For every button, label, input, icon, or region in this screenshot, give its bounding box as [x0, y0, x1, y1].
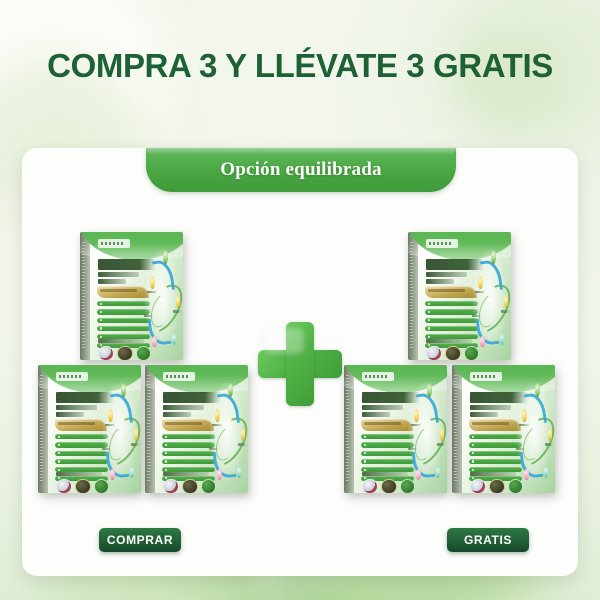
product-box-front — [452, 365, 555, 493]
product-box-front — [80, 232, 183, 360]
made-in-usa-badge-icon — [426, 346, 442, 360]
ingredient-dot — [215, 409, 220, 422]
art-label — [238, 443, 246, 446]
product-subtitle-line1 — [362, 405, 403, 410]
brand-logo — [362, 372, 394, 381]
product-box-front — [344, 365, 447, 493]
made-in-usa-badge-icon — [362, 479, 378, 493]
product-box[interactable] — [344, 365, 447, 493]
product-artwork — [100, 380, 140, 489]
gmp-badge-icon — [182, 479, 198, 493]
product-footer-note — [98, 339, 145, 343]
product-footer-note — [470, 472, 517, 476]
ingredient-dot — [121, 383, 126, 397]
gmp-badge-icon — [117, 346, 133, 360]
product-subtitle-line2 — [470, 412, 498, 417]
product-box[interactable] — [38, 365, 141, 493]
product-footer-note — [362, 472, 409, 476]
art-label — [131, 443, 139, 446]
made-in-usa-badge-icon — [470, 479, 486, 493]
ingredient-dot — [478, 276, 483, 289]
plus-gloss — [264, 328, 304, 354]
box-face — [48, 365, 141, 493]
ingredient-dot — [522, 409, 527, 422]
box-face — [462, 365, 555, 493]
ingredient-dot — [535, 383, 540, 397]
ingredient-dot — [480, 336, 484, 348]
box-face — [90, 232, 183, 360]
product-footer-note — [56, 472, 103, 476]
product-footer-note — [163, 472, 210, 476]
product-artwork — [470, 247, 510, 356]
product-subtitle-line2 — [163, 412, 191, 417]
ingredient-dot — [217, 469, 221, 481]
ingredient-dot — [152, 336, 156, 348]
product-subtitle-line1 — [56, 405, 97, 410]
made-in-usa-badge-icon — [56, 479, 72, 493]
plus-icon — [258, 322, 342, 406]
brand-logo — [426, 239, 458, 248]
gmp-badge-icon — [445, 346, 461, 360]
product-subtitle-line2 — [426, 279, 454, 284]
ingredient-dot — [491, 250, 496, 264]
buy-button[interactable]: COMPRAR — [99, 528, 181, 552]
product-artwork — [514, 380, 554, 489]
ingredient-dot — [108, 409, 113, 422]
gmp-badge-icon — [489, 479, 505, 493]
ingredient-dot — [416, 469, 420, 481]
product-subtitle-line2 — [56, 412, 84, 417]
art-label — [545, 443, 553, 446]
box-face — [155, 365, 248, 493]
box-face — [418, 232, 511, 360]
product-artwork — [406, 380, 446, 489]
ingredient-dot — [150, 276, 155, 289]
product-subtitle-line1 — [470, 405, 511, 410]
gmp-badge-icon — [381, 479, 397, 493]
ingredient-dot — [427, 383, 432, 397]
product-subtitle-line2 — [362, 412, 390, 417]
product-box[interactable] — [452, 365, 555, 493]
option-banner: Opción equilibrada — [146, 148, 456, 192]
product-subtitle-line2 — [98, 279, 126, 284]
product-box-front — [38, 365, 141, 493]
product-footer-note — [426, 339, 473, 343]
product-artwork — [142, 247, 182, 356]
box-face — [354, 365, 447, 493]
brand-logo — [56, 372, 88, 381]
made-in-usa-badge-icon — [163, 479, 179, 493]
art-label — [173, 310, 181, 313]
free-button[interactable]: GRATIS — [447, 528, 529, 552]
product-box-front — [145, 365, 248, 493]
product-subtitle-line1 — [98, 272, 139, 277]
ingredient-dot — [110, 469, 114, 481]
product-box[interactable] — [408, 232, 511, 360]
product-artwork — [207, 380, 247, 489]
brand-logo — [163, 372, 195, 381]
brand-logo — [98, 239, 130, 248]
ingredient-dot — [414, 409, 419, 422]
product-subtitle-line1 — [163, 405, 204, 410]
product-box[interactable] — [80, 232, 183, 360]
option-banner-label: Opción equilibrada — [220, 159, 381, 181]
brand-logo — [470, 372, 502, 381]
promo-headline: COMPRA 3 Y LLÉVATE 3 GRATIS — [0, 47, 600, 85]
ingredient-dot — [524, 469, 528, 481]
product-box[interactable] — [145, 365, 248, 493]
ingredient-dot — [163, 250, 168, 264]
gmp-badge-icon — [75, 479, 91, 493]
made-in-usa-badge-icon — [98, 346, 114, 360]
product-subtitle-line1 — [426, 272, 467, 277]
art-label — [437, 443, 445, 446]
ingredient-dot — [228, 383, 233, 397]
art-label — [501, 310, 509, 313]
product-box-front — [408, 232, 511, 360]
